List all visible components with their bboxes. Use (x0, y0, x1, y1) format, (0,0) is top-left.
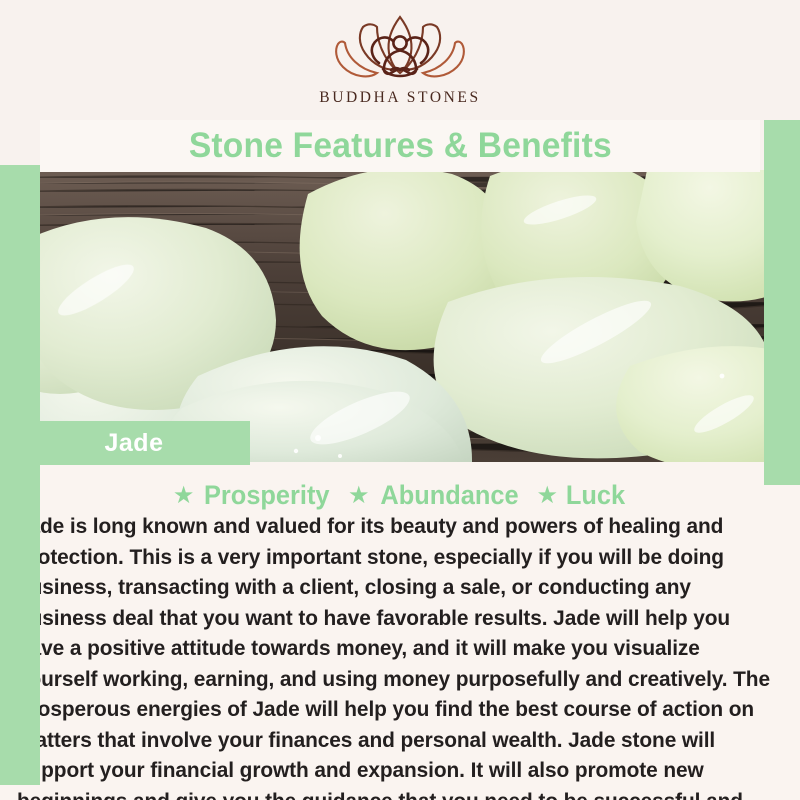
page-title: Stone Features & Benefits (188, 126, 611, 166)
star-icon: ★ (348, 484, 370, 508)
brand-header: BUDDHA STONES (0, 0, 800, 120)
benefit-label: Luck (566, 480, 625, 511)
jade-tumbled-stones-photo (0, 170, 800, 462)
star-icon: ★ (537, 484, 559, 508)
content-area: ★ Prosperity ★ Abundance ★ Luck Jade is … (0, 462, 800, 800)
benefit-item: ★ Abundance (348, 480, 523, 511)
brand-name: BUDDHA STONES (319, 89, 480, 107)
benefit-item: ★ Prosperity (173, 480, 334, 511)
stone-name-label: Jade (105, 429, 164, 458)
decor-green-bar-left (0, 165, 40, 785)
star-icon: ★ (173, 484, 195, 508)
stone-description: Jade is long known and valued for its be… (17, 512, 775, 800)
benefit-item: ★ Luck (537, 480, 628, 511)
infographic-page: BUDDHA STONES Stone Features & Benefits … (0, 0, 800, 800)
stone-name-banner: Jade (18, 421, 250, 465)
decor-green-bar-right (764, 95, 800, 485)
benefit-label: Prosperity (204, 480, 330, 511)
benefits-list: ★ Prosperity ★ Abundance ★ Luck (0, 480, 800, 511)
benefit-label: Abundance (380, 480, 518, 511)
section-title-band: Stone Features & Benefits (40, 120, 760, 172)
lotus-meditation-icon (325, 13, 475, 85)
